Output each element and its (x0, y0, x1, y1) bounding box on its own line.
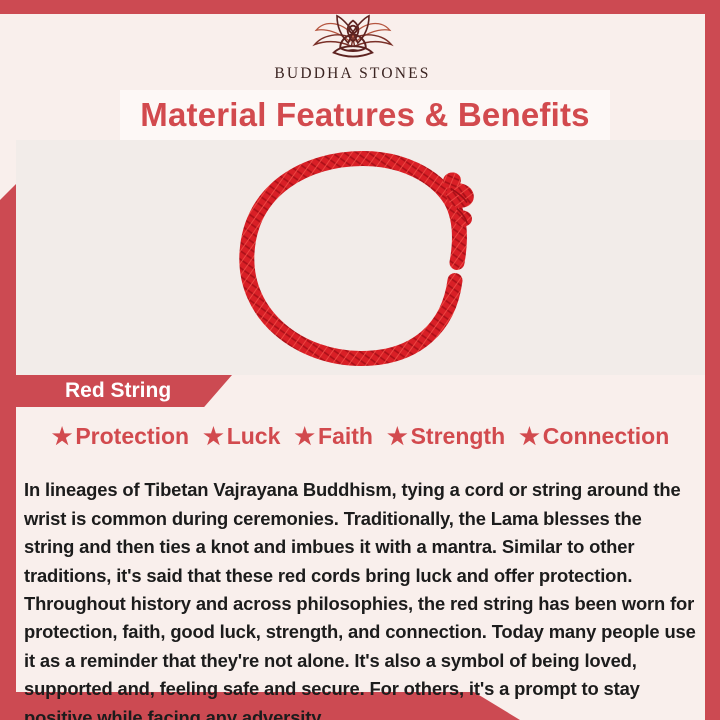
benefit-strength: ★ Strength (380, 423, 512, 450)
benefit-luck: ★ Luck (196, 423, 287, 450)
star-icon: ★ (387, 425, 408, 448)
benefit-faith: ★ Faith (287, 423, 380, 450)
star-icon: ★ (52, 425, 73, 448)
benefit-label: Protection (75, 423, 189, 450)
right-border-bar (705, 0, 720, 720)
page-title: Material Features & Benefits (140, 96, 589, 134)
benefit-label: Faith (318, 423, 373, 450)
benefit-protection: ★ Protection (45, 423, 196, 450)
brand-logo: BUDDHA STONES (0, 14, 705, 90)
left-border-bar (0, 182, 16, 704)
benefit-connection: ★ Connection (512, 423, 676, 450)
product-image-area (16, 140, 705, 375)
brand-name: BUDDHA STONES (274, 65, 430, 83)
benefit-label: Luck (227, 423, 281, 450)
star-icon: ★ (203, 425, 224, 448)
description-paragraph: In lineages of Tibetan Vajrayana Buddhis… (24, 476, 696, 720)
top-border-bar (0, 0, 720, 14)
red-braided-string-bracelet-icon (211, 140, 511, 375)
page-title-band: Material Features & Benefits (120, 90, 610, 140)
benefits-row: ★ Protection ★ Luck ★ Faith ★ Strength ★… (16, 415, 705, 457)
lotus-meditation-icon (305, 14, 401, 64)
star-icon: ★ (294, 425, 315, 448)
star-icon: ★ (519, 425, 540, 448)
benefit-label: Strength (411, 423, 506, 450)
benefit-label: Connection (543, 423, 670, 450)
product-name-banner: Red String (0, 375, 232, 407)
infographic-page: BUDDHA STONES Material Features & Benefi… (0, 0, 720, 720)
product-name-label: Red String (65, 379, 171, 403)
